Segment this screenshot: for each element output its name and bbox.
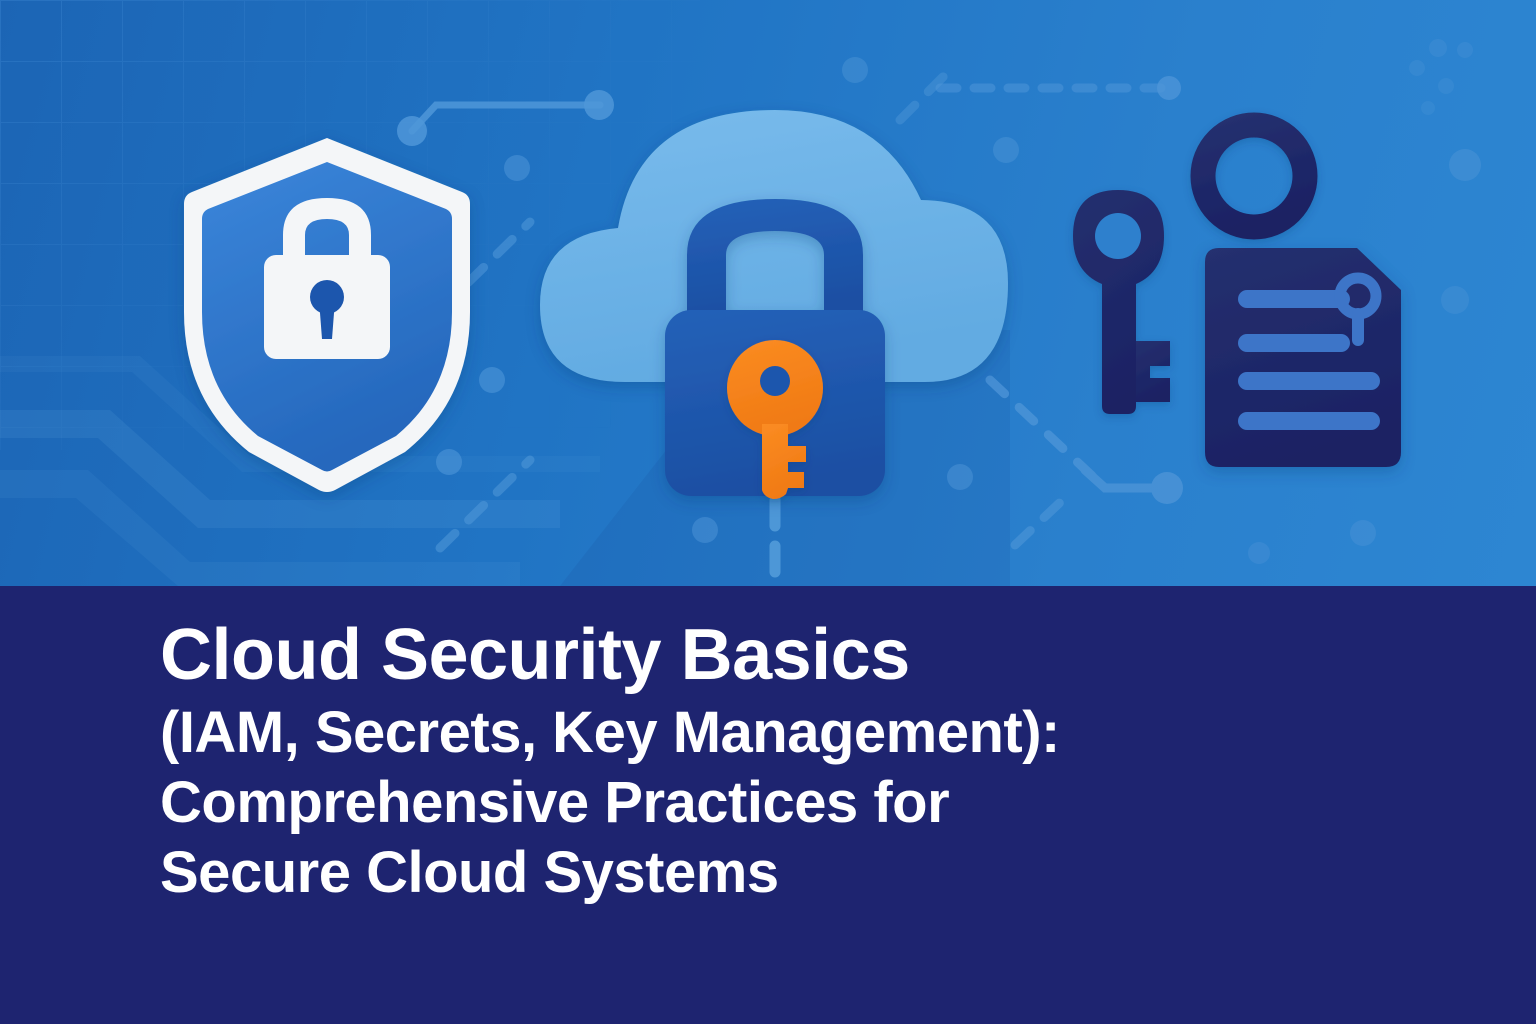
circuit-dot (584, 90, 614, 120)
document-line (1238, 372, 1380, 390)
dashed-diagonal-lines-secondary (900, 75, 945, 120)
circuit-dot (397, 116, 427, 146)
title-line-3: Comprehensive Practices for (160, 768, 1460, 838)
circuit-dot (1157, 76, 1181, 100)
hero-illustration (0, 0, 1536, 586)
title-line-4: Secure Cloud Systems (160, 838, 1460, 908)
hero-section (0, 0, 1536, 586)
key-icon (1073, 190, 1170, 414)
banner-root: Cloud Security Basics (IAM, Secrets, Key… (0, 0, 1536, 1024)
title-line-1: Cloud Security Basics (160, 612, 1460, 698)
document-key-icon (1205, 248, 1401, 467)
title-line-2: (IAM, Secrets, Key Management): (160, 698, 1460, 768)
ring-icon (1203, 125, 1305, 227)
document-line (1238, 290, 1350, 308)
title-block: Cloud Security Basics (IAM, Secrets, Key… (160, 612, 1460, 908)
footer-section: Cloud Security Basics (IAM, Secrets, Key… (0, 586, 1536, 1024)
document-line (1238, 412, 1380, 430)
document-line (1238, 334, 1350, 352)
